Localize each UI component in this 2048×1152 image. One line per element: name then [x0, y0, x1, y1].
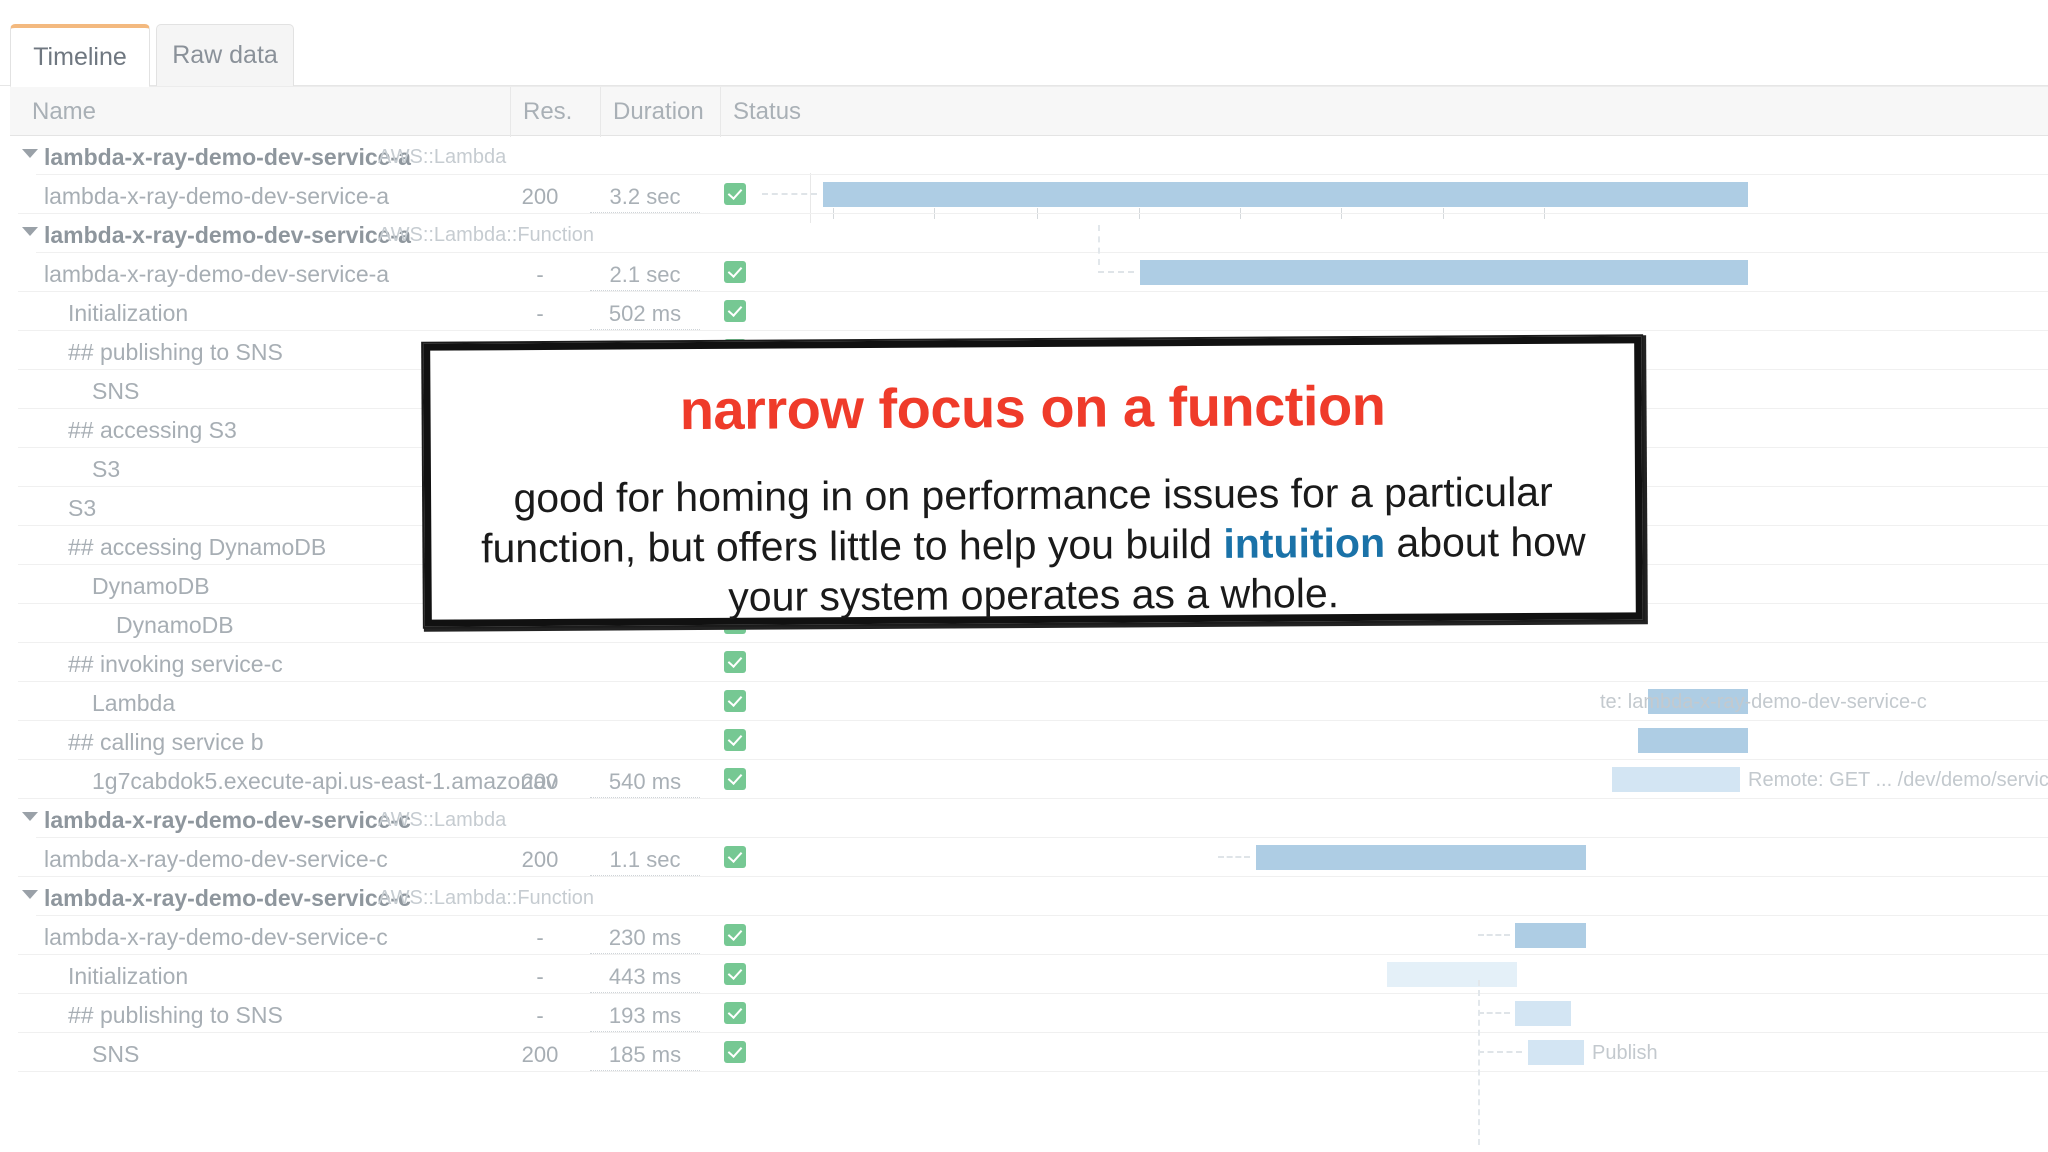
chevron-down-icon[interactable] — [22, 812, 38, 821]
row-response-code: - — [500, 1003, 580, 1029]
row-status — [724, 1041, 746, 1063]
timeline-dashed-connector — [762, 193, 817, 195]
row-name: S3 — [68, 495, 96, 522]
timeline-bar-label: te: lambda-x-ray-demo-dev-service-c — [1600, 691, 1927, 714]
row-duration[interactable]: 502 ms — [590, 301, 700, 330]
group-resource-type: AWS::Lambda — [378, 146, 506, 169]
row-name: S3 — [92, 456, 120, 483]
group-resource-type: AWS::Lambda — [378, 809, 506, 832]
row-duration[interactable]: 185 ms — [590, 1042, 700, 1071]
timeline-dashed-connector — [1478, 934, 1510, 936]
timeline-dashed-connector — [1218, 856, 1250, 858]
check-icon — [724, 1041, 746, 1063]
trace-row[interactable]: Initialization-443 ms — [0, 955, 2048, 994]
column-header-name[interactable]: Name — [32, 87, 362, 137]
column-header-duration[interactable]: Duration — [600, 87, 720, 137]
row-status — [724, 651, 746, 673]
chevron-down-icon[interactable] — [22, 149, 38, 158]
timeline-bar[interactable] — [1515, 1001, 1571, 1026]
trace-group-row[interactable]: lambda-x-ray-demo-dev-service-aAWS::Lamb… — [0, 214, 2048, 253]
callout-highlight: intuition — [1223, 520, 1385, 567]
check-icon — [724, 300, 746, 322]
row-name: lambda-x-ray-demo-dev-service-c — [44, 846, 388, 873]
timeline-bar[interactable] — [823, 182, 1748, 207]
row-name: Initialization — [68, 963, 188, 990]
row-status — [724, 924, 746, 946]
row-duration[interactable]: 443 ms — [590, 964, 700, 993]
chevron-down-icon[interactable] — [22, 890, 38, 899]
row-name: lambda-x-ray-demo-dev-service-a — [44, 261, 389, 288]
timeline-dashed-connector — [1098, 271, 1134, 273]
check-icon — [724, 846, 746, 868]
row-response-code: 200 — [500, 769, 580, 795]
timeline-bar[interactable] — [1638, 728, 1748, 753]
row-duration[interactable]: 193 ms — [590, 1003, 700, 1032]
row-name: ## accessing S3 — [68, 417, 237, 444]
timeline-bar[interactable] — [1528, 1040, 1584, 1065]
trace-row[interactable]: 1g7cabdok5.execute-api.us-east-1.amazona… — [0, 760, 2048, 799]
check-icon — [724, 1002, 746, 1024]
check-icon — [724, 261, 746, 283]
tab-raw-data-label: Raw data — [172, 41, 278, 70]
row-response-code: - — [500, 925, 580, 951]
table-header: Name Res. Duration Status 0.0ms500ms1.0s… — [10, 86, 2048, 136]
row-duration[interactable]: 540 ms — [590, 769, 700, 798]
check-icon — [724, 729, 746, 751]
tab-timeline[interactable]: Timeline — [10, 24, 150, 86]
row-response-code: - — [500, 964, 580, 990]
timeline-bar-label: Publish — [1592, 1042, 1658, 1065]
row-duration[interactable]: 2.1 sec — [590, 262, 700, 291]
row-duration[interactable]: 3.2 sec — [590, 184, 700, 213]
row-status — [724, 183, 746, 205]
row-name: DynamoDB — [92, 573, 210, 600]
row-name: DynamoDB — [116, 612, 234, 639]
row-status — [724, 846, 746, 868]
group-name: lambda-x-ray-demo-dev-service-c — [44, 885, 411, 912]
row-response-code: - — [500, 301, 580, 327]
trace-row[interactable]: SNS200185 msPublish — [0, 1033, 2048, 1072]
timeline-dashed-connector — [1478, 1012, 1510, 1014]
callout-body: good for homing in on performance issues… — [467, 467, 1600, 624]
timeline-vertical-guide — [1478, 980, 1480, 1145]
timeline-bar-label: Remote: GET ... /dev/demo/service-b — [1748, 769, 2048, 792]
row-duration[interactable]: 230 ms — [590, 925, 700, 954]
row-status — [724, 729, 746, 751]
row-status — [724, 768, 746, 790]
row-name: Lambda — [92, 690, 175, 717]
timeline-vertical-guide — [1098, 225, 1100, 265]
row-divider — [18, 1071, 2048, 1072]
group-resource-type: AWS::Lambda::Function — [378, 887, 594, 910]
group-resource-type: AWS::Lambda::Function — [378, 224, 594, 247]
timeline-bar[interactable] — [1387, 962, 1517, 987]
row-name: ## publishing to SNS — [68, 1002, 283, 1029]
check-icon — [724, 924, 746, 946]
trace-row[interactable]: lambda-x-ray-demo-dev-service-c2001.1 se… — [0, 838, 2048, 877]
column-header-status[interactable]: Status — [720, 87, 810, 137]
group-name: lambda-x-ray-demo-dev-service-c — [44, 807, 411, 834]
row-status — [724, 963, 746, 985]
row-name: ## calling service b — [68, 729, 264, 756]
trace-row[interactable]: ## publishing to SNS-193 ms — [0, 994, 2048, 1033]
row-name: ## invoking service-c — [68, 651, 283, 678]
trace-row[interactable]: lambda-x-ray-demo-dev-service-a-2.1 sec — [0, 253, 2048, 292]
group-name: lambda-x-ray-demo-dev-service-a — [44, 144, 411, 171]
timeline-bar[interactable] — [1256, 845, 1586, 870]
trace-row[interactable]: ## calling service b — [0, 721, 2048, 760]
row-name: lambda-x-ray-demo-dev-service-c — [44, 924, 388, 951]
trace-row[interactable]: ## invoking service-c — [0, 643, 2048, 682]
row-status — [724, 300, 746, 322]
row-status — [724, 690, 746, 712]
timeline-bar[interactable] — [1612, 767, 1740, 792]
check-icon — [724, 651, 746, 673]
trace-group-row[interactable]: lambda-x-ray-demo-dev-service-aAWS::Lamb… — [0, 136, 2048, 175]
row-response-code: - — [500, 262, 580, 288]
check-icon — [724, 963, 746, 985]
callout-title: narrow focus on a function — [680, 373, 1386, 442]
tab-bar: Timeline Raw data — [0, 24, 2048, 86]
row-name: lambda-x-ray-demo-dev-service-a — [44, 183, 389, 210]
tab-raw-data[interactable]: Raw data — [156, 24, 294, 86]
trace-row[interactable]: Initialization-502 ms — [0, 292, 2048, 331]
check-icon — [724, 690, 746, 712]
chevron-down-icon[interactable] — [22, 227, 38, 236]
row-name: SNS — [92, 378, 139, 405]
row-status — [724, 1002, 746, 1024]
trace-group-row[interactable]: lambda-x-ray-demo-dev-service-cAWS::Lamb… — [0, 877, 2048, 916]
row-response-code: 200 — [500, 184, 580, 210]
row-response-code: 200 — [500, 847, 580, 873]
check-icon — [724, 768, 746, 790]
row-name: SNS — [92, 1041, 139, 1068]
timeline-bar[interactable] — [1515, 923, 1586, 948]
trace-group-row[interactable]: lambda-x-ray-demo-dev-service-cAWS::Lamb… — [0, 799, 2048, 838]
timeline-dashed-connector — [1478, 1051, 1522, 1053]
tab-timeline-label: Timeline — [33, 43, 127, 72]
xray-trace-timeline-screen: Timeline Raw data Name Res. Duration Sta… — [0, 0, 2048, 1152]
annotation-callout: narrow focus on a function good for homi… — [423, 336, 1643, 626]
trace-row[interactable]: lambda-x-ray-demo-dev-service-c-230 ms — [0, 916, 2048, 955]
row-name: ## accessing DynamoDB — [68, 534, 326, 561]
trace-row[interactable]: lambda-x-ray-demo-dev-service-a2003.2 se… — [0, 175, 2048, 214]
group-name: lambda-x-ray-demo-dev-service-a — [44, 222, 411, 249]
row-name: 1g7cabdok5.execute-api.us-east-1.amazona… — [92, 768, 557, 795]
trace-row[interactable]: Lambdate: lambda-x-ray-demo-dev-service-… — [0, 682, 2048, 721]
row-name: Initialization — [68, 300, 188, 327]
check-icon — [724, 183, 746, 205]
timeline-bar[interactable] — [1140, 260, 1748, 285]
row-duration[interactable]: 1.1 sec — [590, 847, 700, 876]
row-name: ## publishing to SNS — [68, 339, 283, 366]
row-status — [724, 261, 746, 283]
column-header-res[interactable]: Res. — [510, 87, 600, 137]
row-response-code: 200 — [500, 1042, 580, 1068]
